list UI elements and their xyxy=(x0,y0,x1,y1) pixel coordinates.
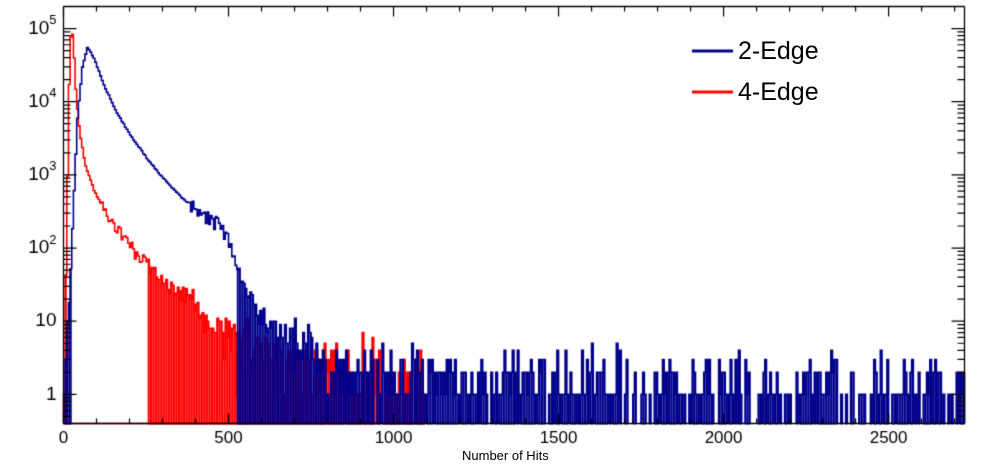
legend-entry-label-2-edge: 2-Edge xyxy=(738,37,819,66)
x-axis-title: Number of Hits xyxy=(462,448,549,463)
legend-entry-label-4-edge: 4-Edge xyxy=(738,78,819,107)
histogram-plot-canvas xyxy=(0,0,996,472)
plot-page: Number of Hits 2-Edge 4-Edge xyxy=(0,0,996,472)
